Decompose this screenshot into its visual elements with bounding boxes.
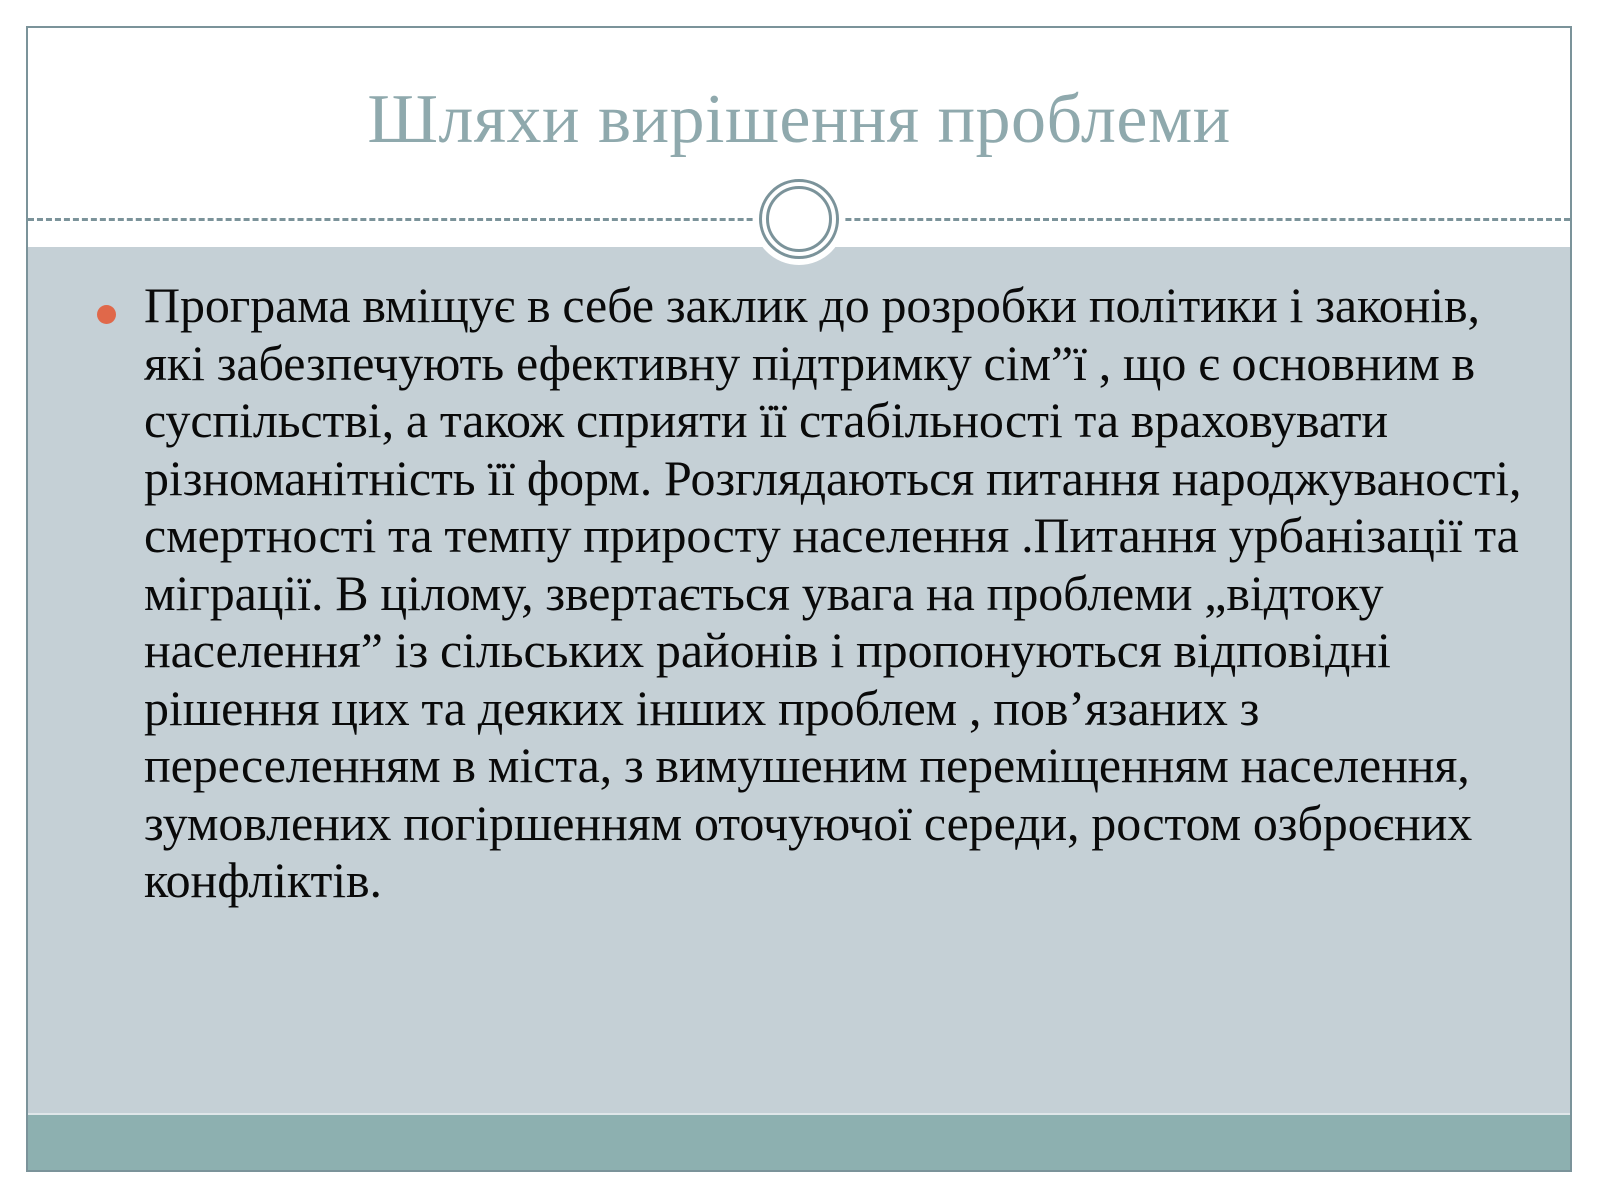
content-region: Програма вміщує в себе заклик до розробк… [28,247,1570,1115]
footer-band [28,1113,1570,1170]
bullet-list: Програма вміщує в себе заклик до розробк… [72,277,1524,910]
round-bullet-icon [97,305,116,324]
bullet-item-text: Програма вміщує в себе заклик до розробк… [144,277,1524,910]
list-item: Програма вміщує в себе заклик до розробк… [72,277,1524,910]
inner-ring-icon [766,186,832,252]
double-circle-ornament-icon [753,173,845,265]
page-title: Шляхи вирішення проблеми [28,84,1570,157]
presentation-slide: Шляхи вирішення проблеми Програма вміщує… [26,26,1572,1172]
slide-canvas: Шляхи вирішення проблеми Програма вміщує… [0,0,1600,1200]
